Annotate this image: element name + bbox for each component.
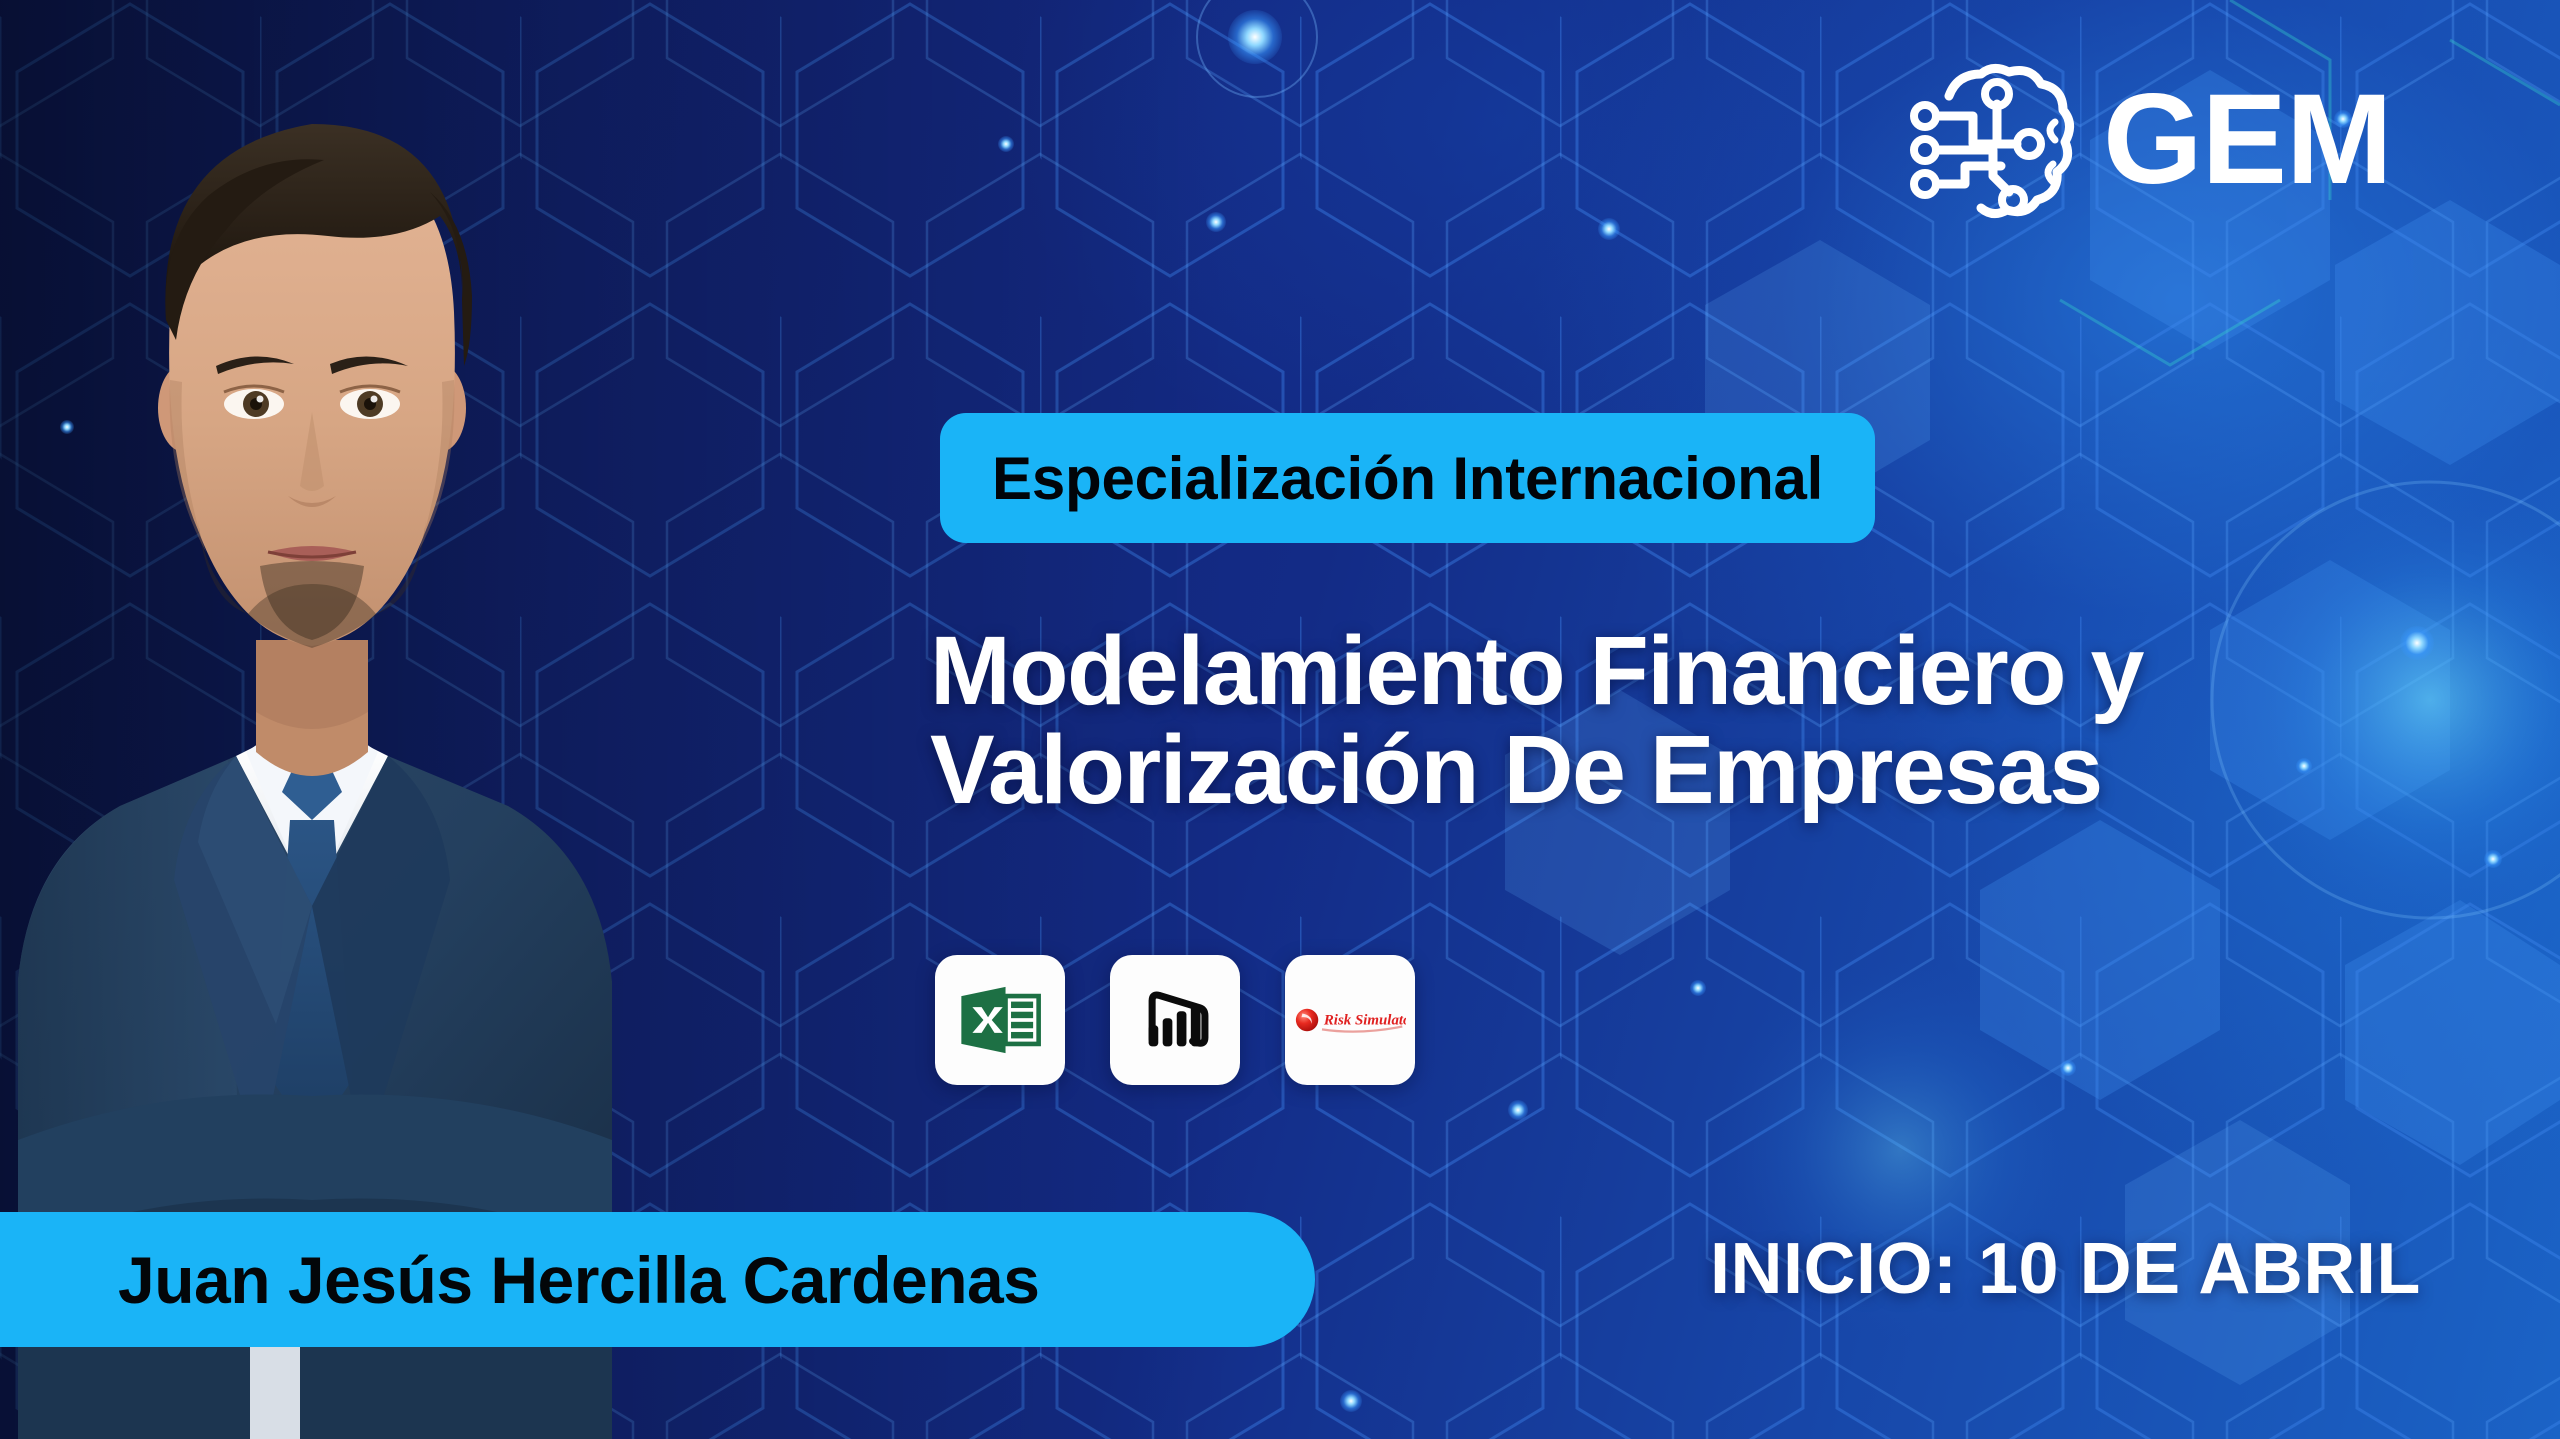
start-date: INICIO: 10 DE ABRIL <box>1710 1228 2421 1310</box>
speaker-name: Juan Jesús Hercilla Cardenas <box>118 1242 1039 1318</box>
gem-logo: GEM <box>1905 60 2392 220</box>
risk-simulator-icon: Risk Simulator <box>1294 997 1406 1043</box>
course-title: Modelamiento Financiero y Valorización D… <box>930 622 2530 820</box>
promo-banner: GEM Especialización Internacional Modela… <box>0 0 2560 1439</box>
brain-circuit-icon <box>1905 60 2085 220</box>
tool-power-bi <box>1110 955 1240 1085</box>
tool-risk-simulator: Risk Simulator <box>1285 955 1415 1085</box>
specialization-badge: Especialización Internacional <box>940 413 1875 543</box>
gem-logo-text: GEM <box>2103 76 2392 204</box>
software-tools-row: Risk Simulator <box>935 955 1415 1085</box>
specialization-badge-label: Especialización Internacional <box>992 444 1823 513</box>
power-bi-icon <box>1131 976 1219 1064</box>
microsoft-excel-icon <box>954 974 1046 1066</box>
course-title-line-1: Modelamiento Financiero y <box>930 622 2530 721</box>
speaker-name-bar: Juan Jesús Hercilla Cardenas <box>0 1212 1315 1347</box>
svg-text:Risk Simulator: Risk Simulator <box>1323 1013 1406 1029</box>
course-title-line-2: Valorización De Empresas <box>930 721 2530 820</box>
tool-excel <box>935 955 1065 1085</box>
